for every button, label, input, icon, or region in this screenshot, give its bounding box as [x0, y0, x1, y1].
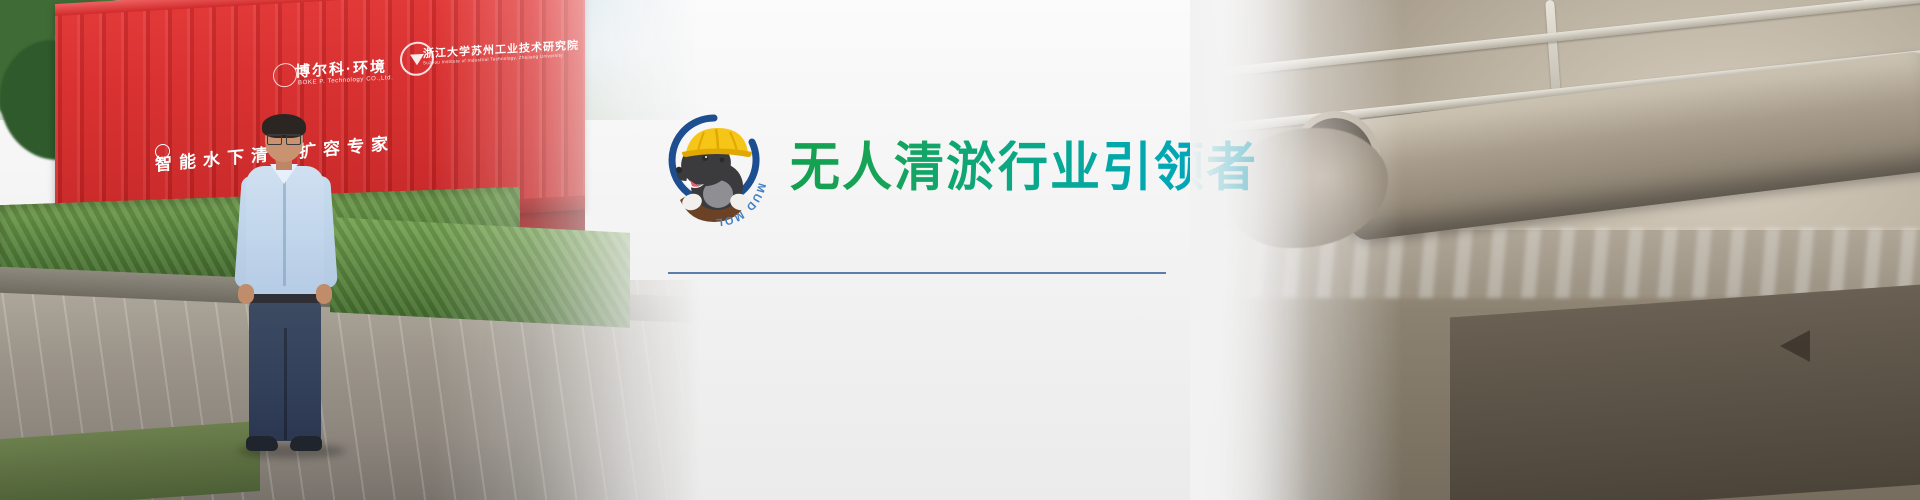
hedge-row: [330, 217, 630, 328]
right-photo-group: [1210, 0, 1920, 500]
person-shirt-placket: [283, 176, 286, 286]
glasses-icon: [267, 134, 301, 143]
person-belt: [248, 294, 322, 303]
arrow-marking-icon: [1780, 330, 1810, 362]
person-left-hand: [238, 284, 254, 304]
person-leg-split: [284, 328, 287, 440]
hero-banner: 博尔科·环境 BOKE P. Technology CO.,Ltd. 浙江大学苏…: [0, 0, 1920, 500]
tank-shadow-area: [1450, 283, 1920, 500]
mud-mole-logo: MUD MOLE: [660, 108, 768, 226]
person-right-shoe: [290, 436, 322, 451]
sludge-discharge-pipe-photo: [1220, 0, 1920, 500]
divider-line: [668, 272, 1166, 274]
person-figure: [232, 118, 352, 448]
center-brand-block: MUD MOLE 无人清淤行业引领者: [660, 0, 1220, 500]
headline-text: 无人清淤行业引领者: [790, 141, 1258, 194]
discharge-pipe: [1335, 50, 1920, 242]
left-photo: 博尔科·环境 BOKE P. Technology CO.,Ltd. 浙江大学苏…: [0, 0, 700, 500]
person-right-hand: [316, 284, 332, 304]
person-left-shoe: [246, 436, 278, 451]
